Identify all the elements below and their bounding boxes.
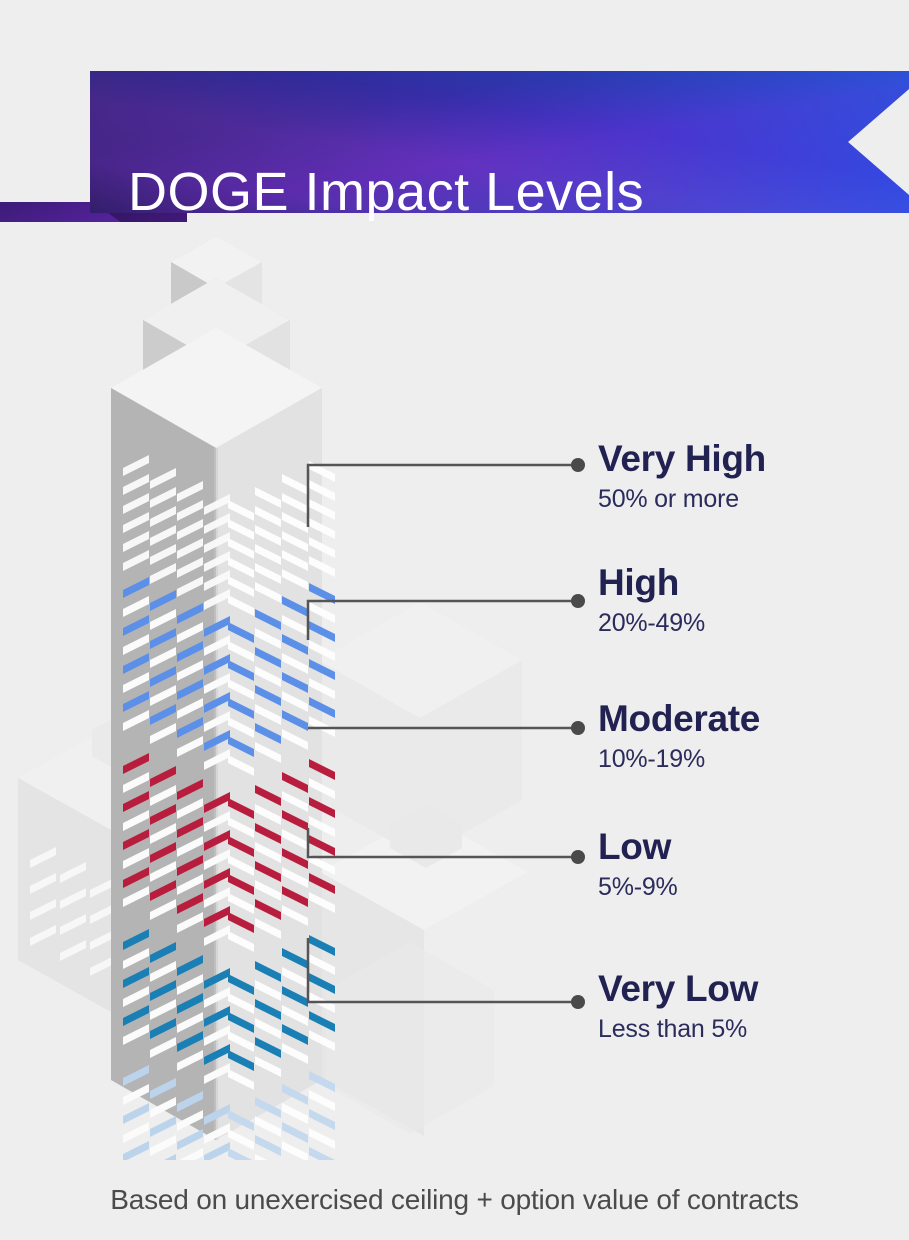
isometric-building-illustration (0, 200, 909, 1160)
legend-range-low: 5%-9% (598, 872, 678, 902)
legend-range-very-high: 50% or more (598, 484, 766, 514)
main-tower (111, 236, 335, 1160)
legend-item-low[interactable]: Low 5%-9% (598, 826, 678, 902)
leader-line-very-high (308, 458, 585, 527)
legend-range-high: 20%-49% (598, 608, 705, 638)
legend-item-high[interactable]: High 20%-49% (598, 562, 705, 638)
footer-caption: Based on unexercised ceiling + option va… (0, 1184, 909, 1216)
legend-item-very-low[interactable]: Very Low Less than 5% (598, 968, 758, 1044)
legend-range-moderate: 10%-19% (598, 744, 760, 774)
legend-label-moderate: Moderate (598, 698, 760, 740)
legend-label-very-low: Very Low (598, 968, 758, 1010)
legend-label-low: Low (598, 826, 678, 868)
legend-label-high: High (598, 562, 705, 604)
ghost-building-mid (318, 602, 522, 858)
legend-item-moderate[interactable]: Moderate 10%-19% (598, 698, 760, 774)
legend-item-very-high[interactable]: Very High 50% or more (598, 438, 766, 514)
legend-range-very-low: Less than 5% (598, 1014, 758, 1044)
banner-ribbon (90, 71, 909, 213)
header-banner: DOGE Impact Levels (0, 62, 909, 222)
legend-label-very-high: Very High (598, 438, 766, 480)
